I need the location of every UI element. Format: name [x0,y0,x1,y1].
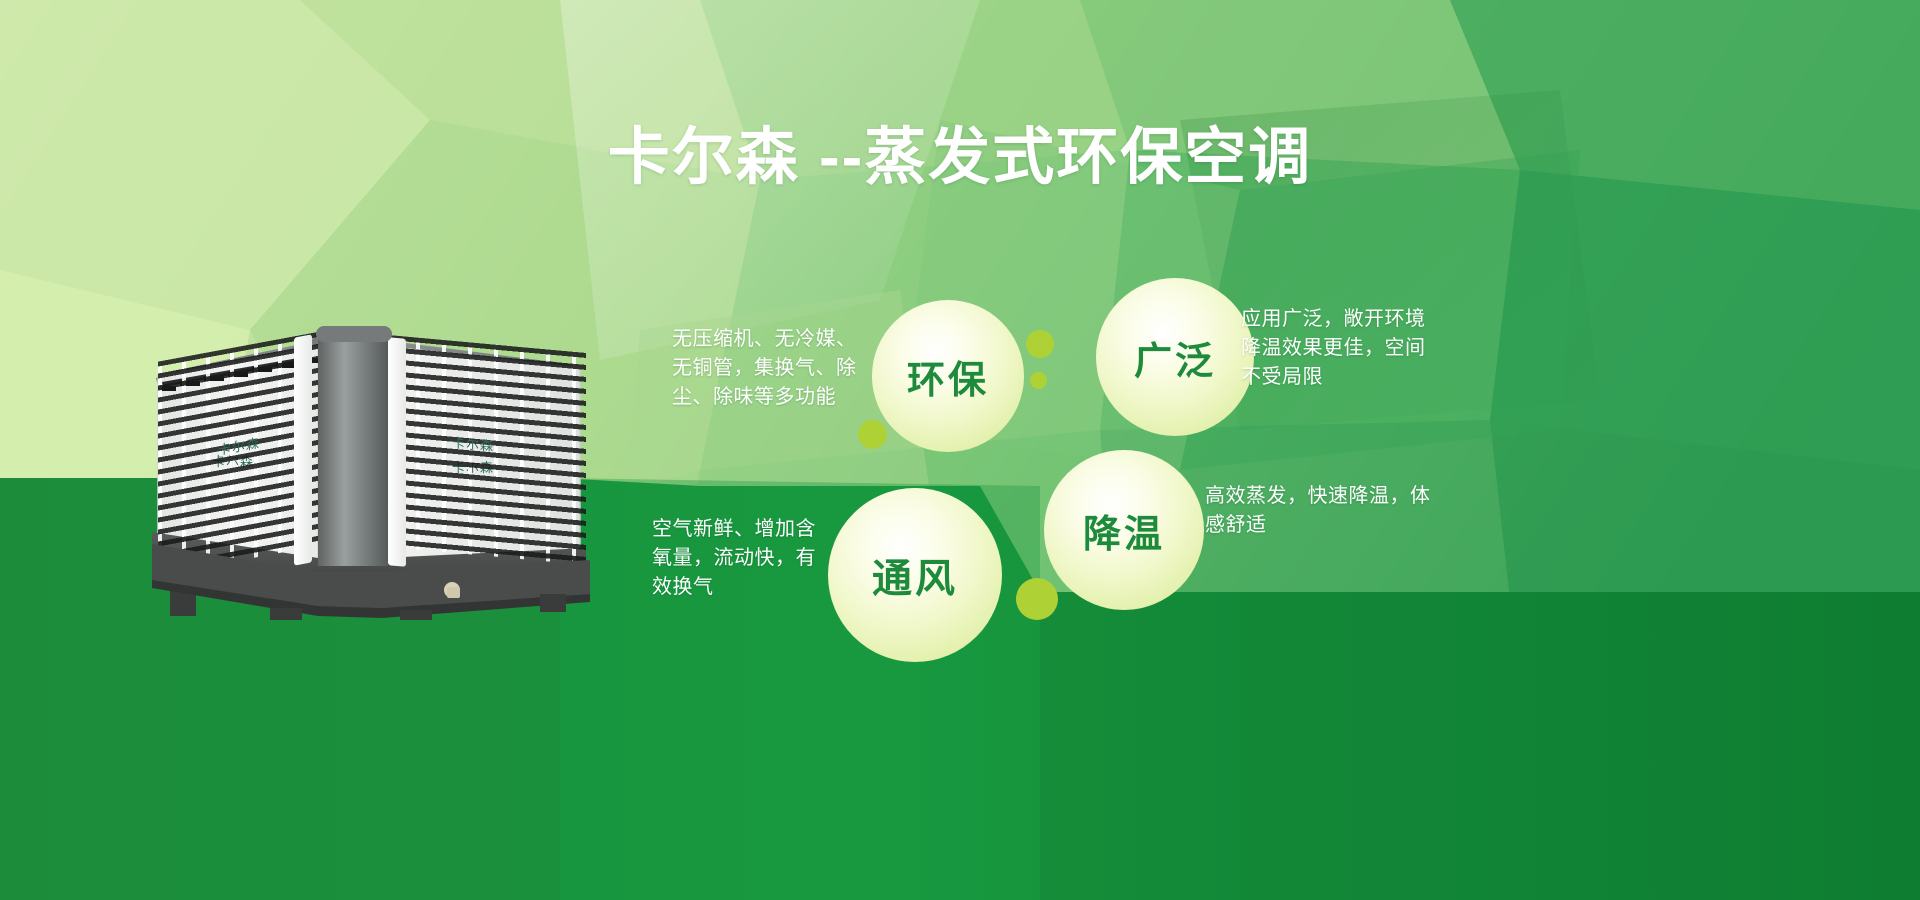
accent-dot-4 [1016,578,1058,620]
banner-title: 卡尔森 --蒸发式环保空调 [0,123,1920,193]
feature-description-guangfan: 应用广泛，敞开环境降温效果更佳，空间不受局限 [1241,305,1441,392]
product-corner-pillar [318,330,388,566]
feature-circle-tongfeng: 通风 [828,488,1002,662]
product-mullion-left [294,334,312,565]
product-mullion-right [388,337,406,567]
promo-banner: 卡尔森 --蒸发式环保空调 [0,0,1920,900]
product-brand-badge-right: 卡尔森 [452,432,494,455]
feature-description-huanbao: 无压缩机、无冷媒、无铜管，集换气、除尘、除味等多功能 [672,325,872,412]
product-top-handle [316,326,392,342]
feature-description-jiangwen: 高效蒸发，快速降温，体感舒适 [1205,482,1435,540]
feature-circle-huanbao: 环保 [872,300,1024,452]
accent-dot-3 [858,420,887,449]
feature-circle-jiangwen: 降温 [1044,450,1204,610]
feature-description-tongfeng: 空气新鲜、增加含氧量，流动快，有效换气 [652,515,832,602]
accent-dot-1 [1026,330,1054,358]
feature-circle-guangfan: 广泛 [1096,278,1254,436]
accent-dot-2 [1030,372,1047,389]
